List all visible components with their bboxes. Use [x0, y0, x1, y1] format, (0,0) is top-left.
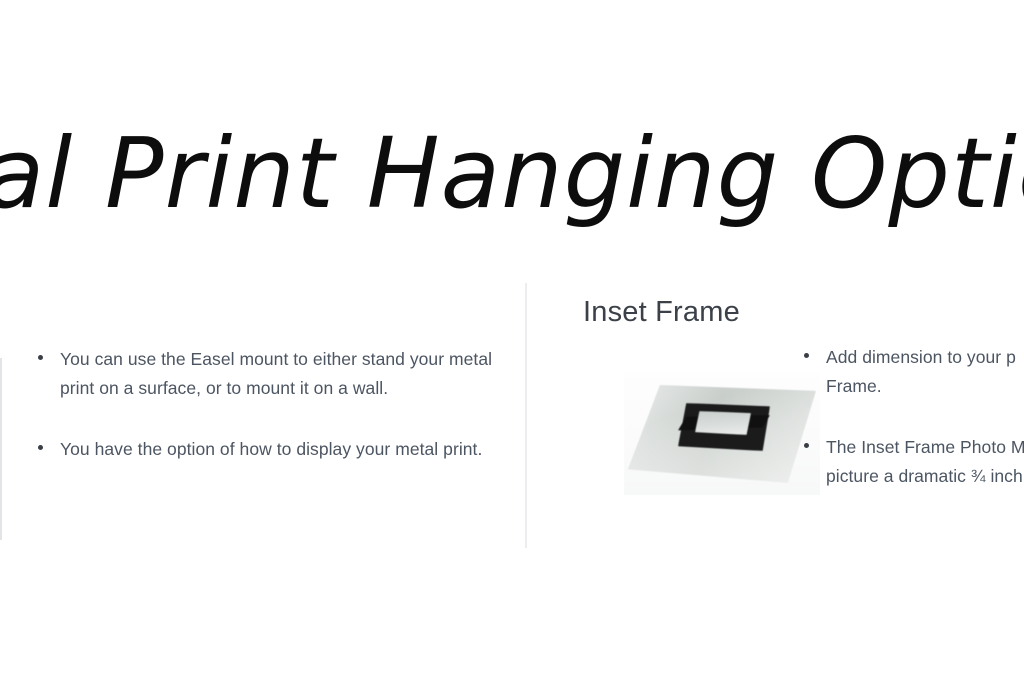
easel-mount-column: You can use the Easel mount to either st…: [0, 283, 510, 553]
list-item-text-line2: picture a dramatic ¾ inch: [826, 462, 1024, 491]
page-title: tal Print Hanging Optio: [0, 104, 1024, 244]
bullet-dot-icon: [38, 355, 43, 360]
inset-frame-window: [695, 411, 751, 435]
bullet-dot-icon: [804, 443, 809, 448]
list-item: You have the option of how to display yo…: [34, 435, 504, 464]
inset-frame-photo-mount-image: [624, 371, 820, 495]
page-title-band: tal Print Hanging Optio: [0, 104, 1024, 244]
list-item: Add dimension to your p Frame.: [800, 343, 1024, 401]
easel-mount-bullet-list: You can use the Easel mount to either st…: [34, 345, 504, 464]
list-item-text: You have the option of how to display yo…: [60, 435, 504, 464]
section-heading-inset-frame: Inset Frame: [583, 295, 740, 329]
content-columns: You can use the Easel mount to either st…: [0, 283, 1024, 553]
bullet-dot-icon: [38, 445, 43, 450]
list-item-text-line1: The Inset Frame Photo M: [826, 433, 1024, 462]
list-item-text-line1: Add dimension to your p: [826, 343, 1024, 372]
list-item: The Inset Frame Photo M picture a dramat…: [800, 433, 1024, 491]
inset-frame-bullet-list: Add dimension to your p Frame. The Inset…: [800, 343, 1024, 491]
list-item-text: You can use the Easel mount to either st…: [60, 345, 504, 403]
bullet-dot-icon: [804, 353, 809, 358]
inset-frame-column: Inset Frame Add dimension to your p Fram…: [526, 283, 1024, 553]
list-item: You can use the Easel mount to either st…: [34, 345, 504, 403]
list-item-text-line2: Frame.: [826, 372, 1024, 401]
